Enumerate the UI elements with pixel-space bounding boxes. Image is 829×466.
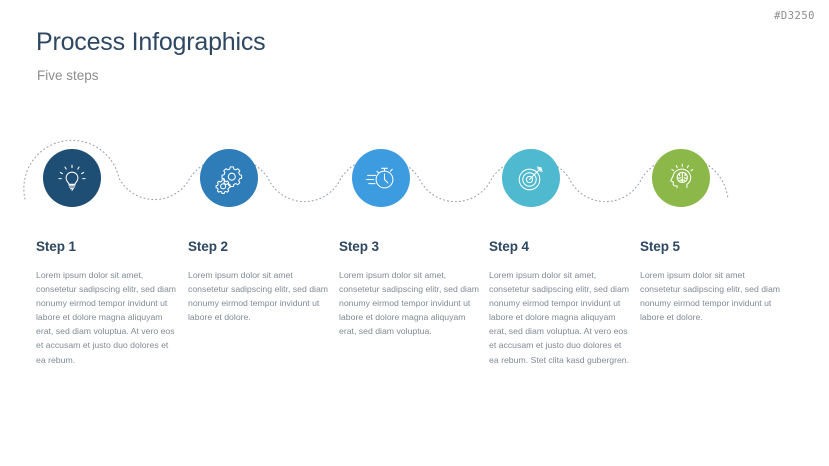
step-title-2: Step 2 [188,239,330,254]
document-id: #D3250 [774,10,815,22]
step-body-2: Lorem ipsum dolor sit amet consetetur sa… [188,268,330,324]
step-column-4: Step 4 Lorem ipsum dolor sit amet, conse… [489,239,631,367]
step-title-1: Step 1 [36,239,178,254]
step-body-1: Lorem ipsum dolor sit amet, consetetur s… [36,268,178,367]
target-arrow-icon [514,161,548,195]
step-node-5[interactable] [652,149,710,207]
gears-icon [212,161,246,195]
stopwatch-icon [364,161,398,195]
head-brain-icon [664,161,698,195]
step-body-4: Lorem ipsum dolor sit amet, consetetur s… [489,268,631,367]
step-column-2: Step 2 Lorem ipsum dolor sit amet conset… [188,239,330,324]
step-title-4: Step 4 [489,239,631,254]
slide-canvas: #D3250 Process Infographics Five steps [0,0,829,466]
page-title: Process Infographics [36,28,265,57]
step-node-4[interactable] [502,149,560,207]
step-node-2[interactable] [200,149,258,207]
step-column-1: Step 1 Lorem ipsum dolor sit amet, conse… [36,239,178,367]
step-title-3: Step 3 [339,239,481,254]
lightbulb-icon [55,161,89,195]
step-body-5: Lorem ipsum dolor sit amet consetetur sa… [640,268,782,324]
step-column-3: Step 3 Lorem ipsum dolor sit amet, conse… [339,239,481,338]
step-node-1[interactable] [43,149,101,207]
step-body-3: Lorem ipsum dolor sit amet, consetetur s… [339,268,481,338]
page-subtitle: Five steps [37,68,99,83]
step-node-3[interactable] [352,149,410,207]
process-diagram [0,124,829,239]
step-title-5: Step 5 [640,239,782,254]
step-column-5: Step 5 Lorem ipsum dolor sit amet conset… [640,239,782,324]
